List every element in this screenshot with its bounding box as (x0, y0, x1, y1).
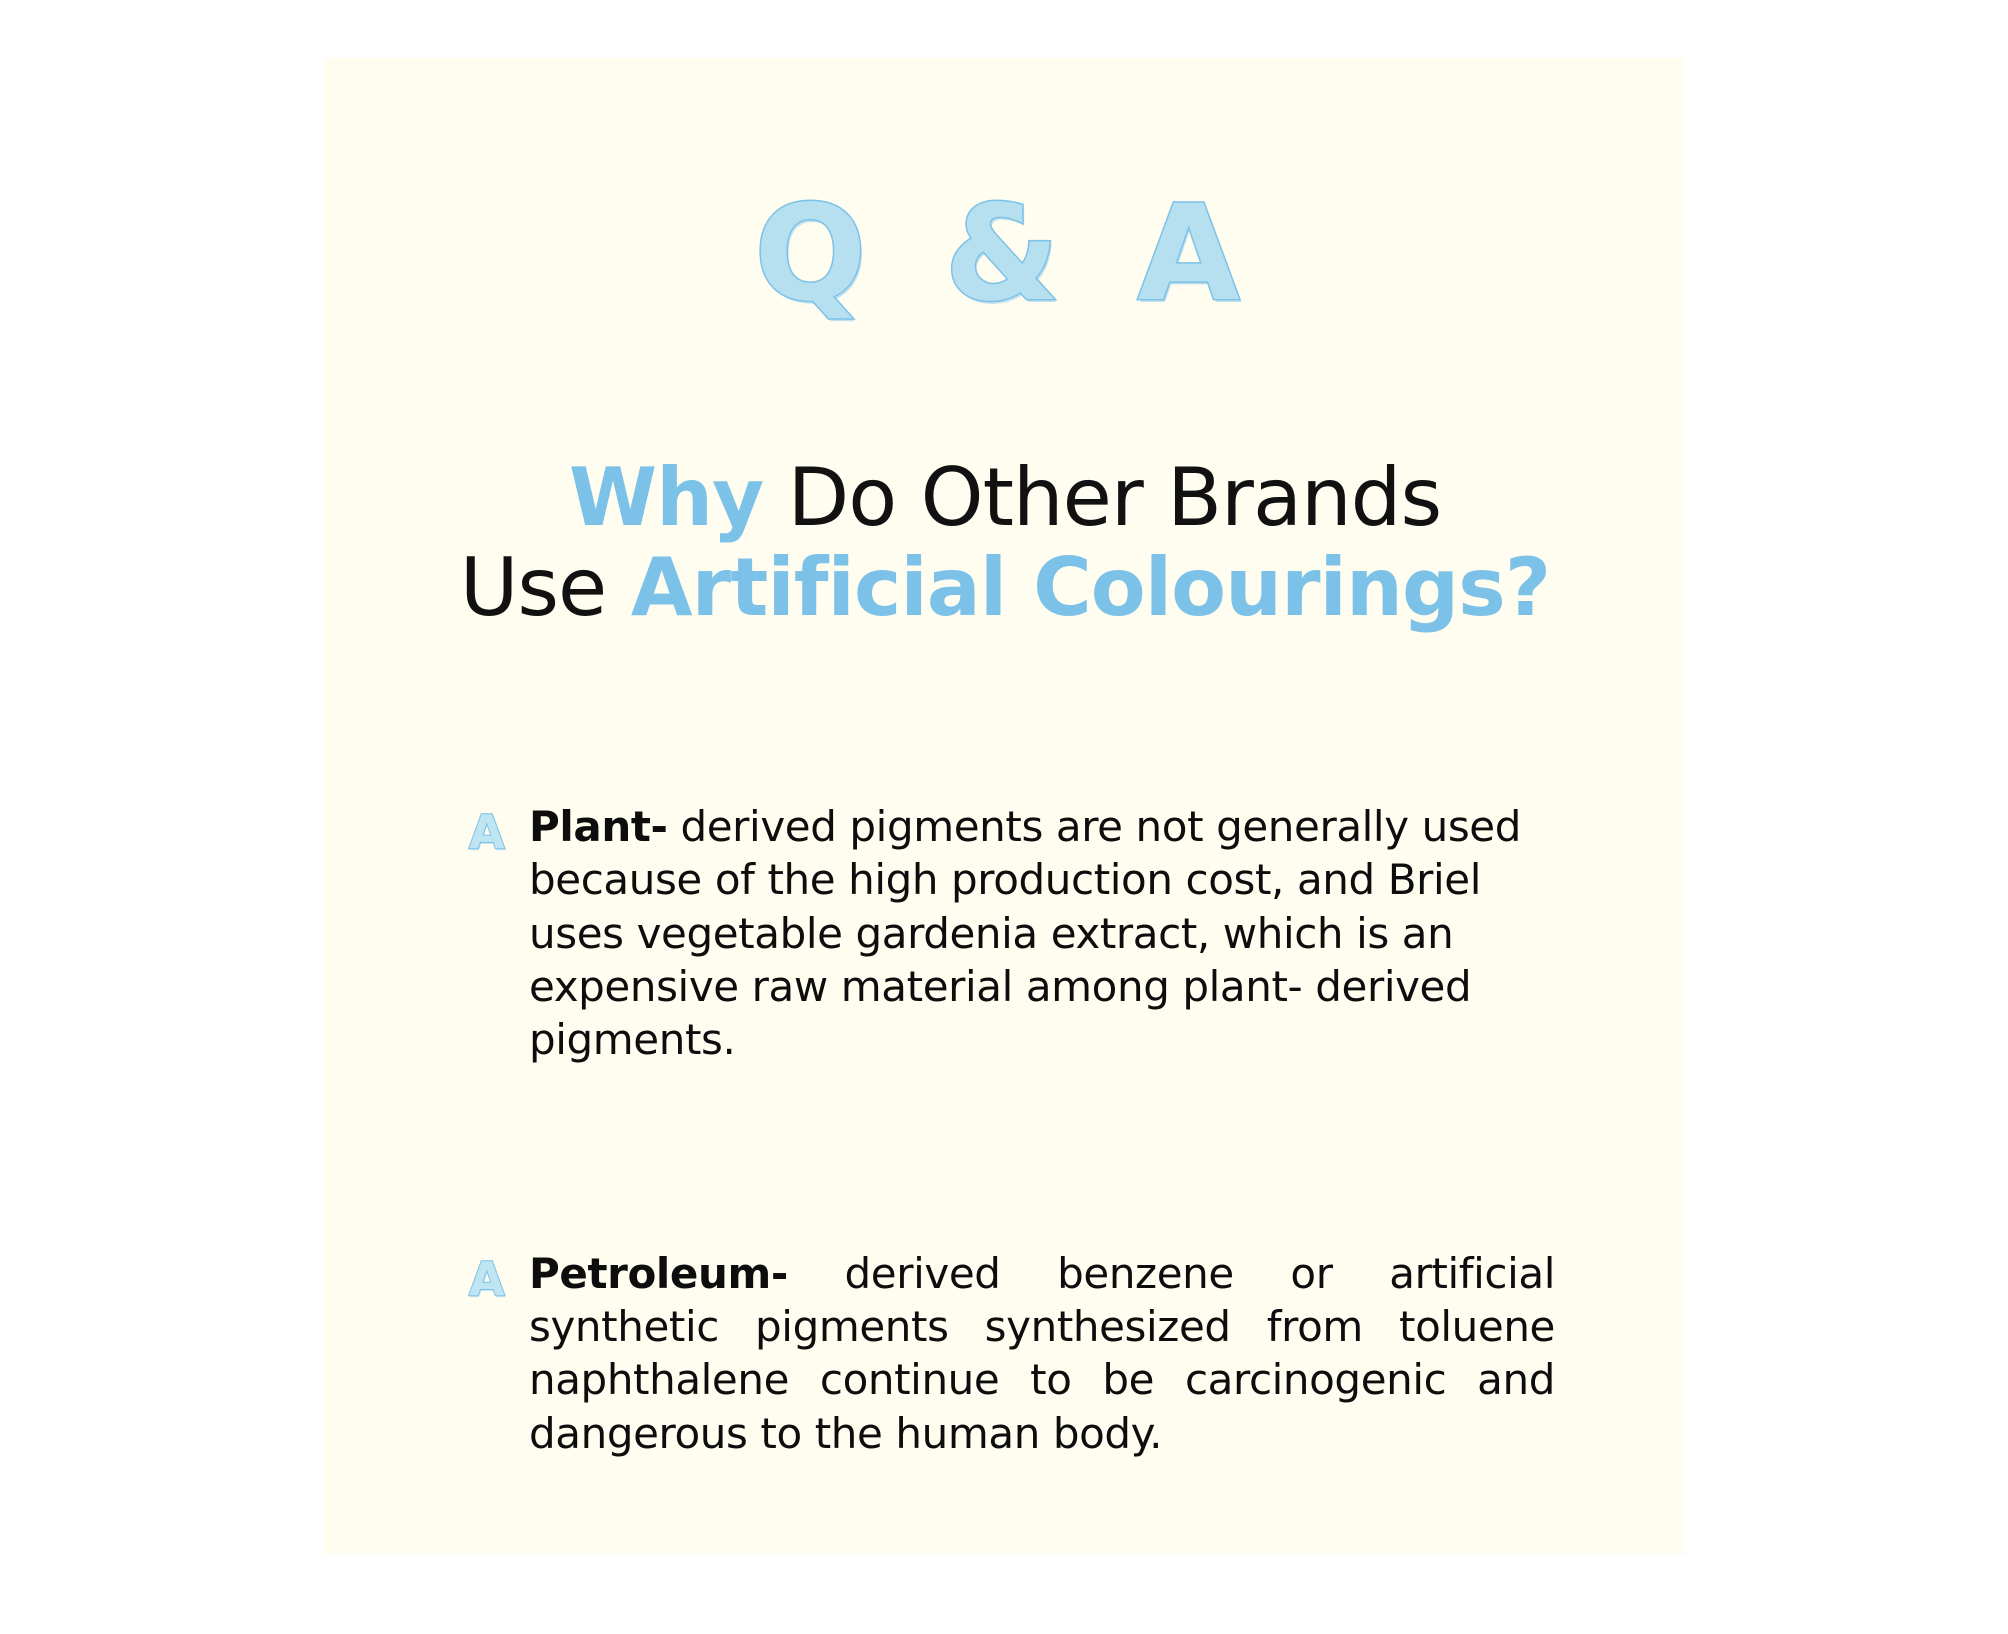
headline-accent-why: Why (569, 451, 763, 544)
poster-page: Q & A Why Do Other Brands Use Artificial… (0, 0, 2008, 1634)
answer-item-petroleum: A Petroleum- derived benzene or artifici… (465, 1247, 1555, 1460)
headline-plain-1: Do Other Brands (763, 451, 1441, 544)
answer-list: A Plant- derived pigments are not genera… (465, 758, 1555, 1502)
answer-item-plant: A Plant- derived pigments are not genera… (465, 800, 1555, 1067)
headline-accent-artificial-colourings: Artificial Colourings? (631, 541, 1550, 634)
headline-line-1: Why Do Other Brands (385, 453, 1625, 543)
answer-marker-icon: A (469, 809, 505, 855)
headline-plain-2: Use (460, 541, 631, 634)
headline-line-2: Use Artificial Colourings? (385, 543, 1625, 633)
answer-lead-petroleum: Petroleum- (529, 1249, 788, 1298)
answer-lead-plant: Plant- (529, 802, 668, 851)
qa-decorative-heading: Q & A (325, 188, 1685, 320)
answer-paragraph: Petroleum- derived benzene or artificial… (529, 1247, 1555, 1460)
page-title: Why Do Other Brands Use Artificial Colou… (385, 453, 1625, 634)
answer-body-plant: derived pigments are not generally used … (529, 802, 1521, 1064)
content-canvas: Q & A Why Do Other Brands Use Artificial… (325, 58, 1685, 1555)
answer-marker-icon: A (469, 1256, 505, 1302)
answer-paragraph: Plant- derived pigments are not generall… (529, 800, 1555, 1067)
